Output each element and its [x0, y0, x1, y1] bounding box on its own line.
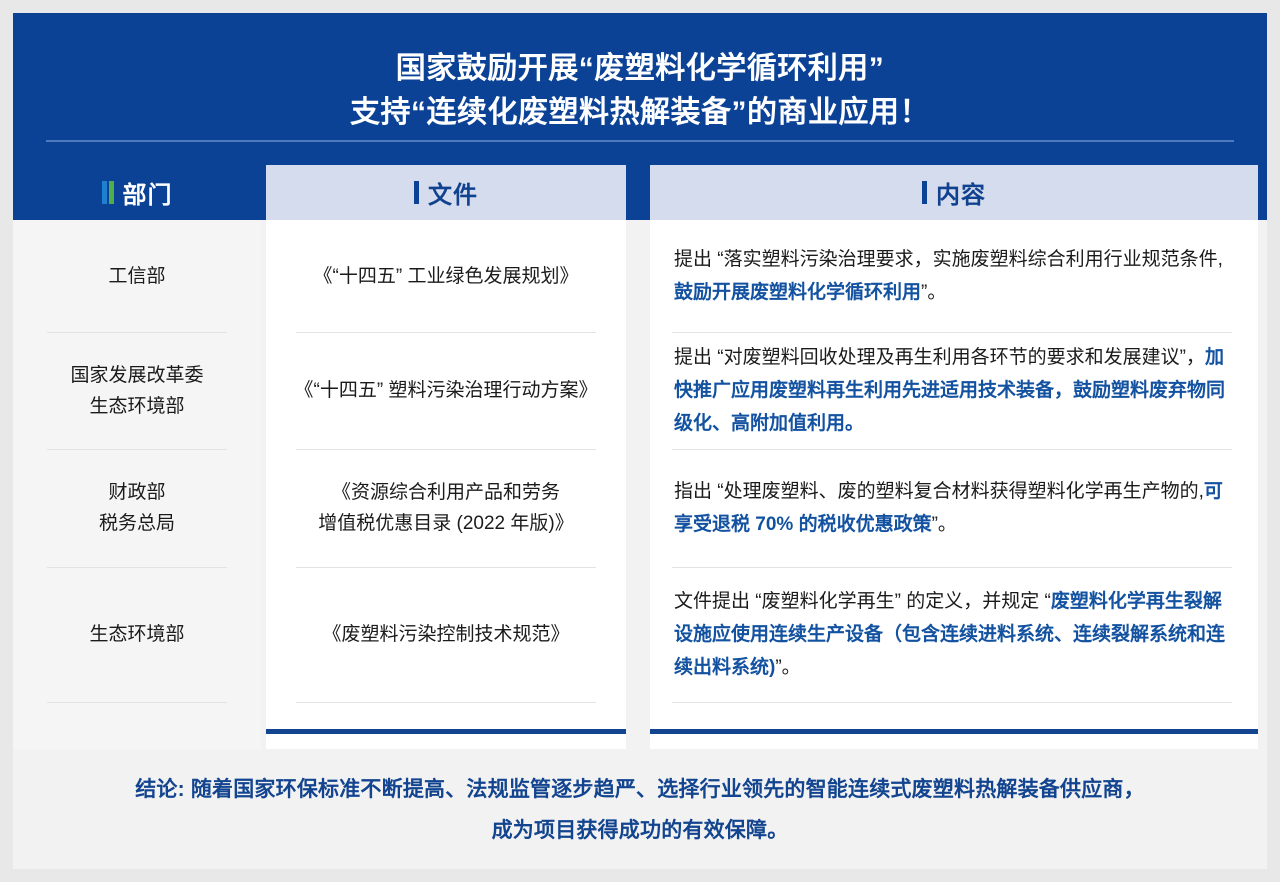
- table-row: 提出 “对废塑料回收处理及再生利用各环节的要求和发展建议”，加快推广应用废塑料再…: [650, 332, 1258, 449]
- table-row: 《“十四五” 塑料污染治理行动方案》: [266, 332, 626, 449]
- table-row: 《废塑料污染控制技术规范》: [266, 567, 626, 702]
- column-header-file: 文件: [266, 165, 626, 220]
- row-divider: [296, 332, 596, 333]
- row-divider: [47, 449, 227, 450]
- file-column: 《“十四五” 工业绿色发展规划》 《“十四五” 塑料污染治理行动方案》 《资源综…: [266, 220, 626, 749]
- department-line-2: 税务总局: [99, 513, 175, 534]
- table-row: 指出 “处理废塑料、废的塑料复合材料获得塑料化学再生产物的,可享受退税 70% …: [650, 449, 1258, 567]
- department-line-2: 生态环境部: [89, 396, 184, 417]
- title-line-2: 支持“连续化废塑料热解装备”的商业应用！: [13, 91, 1267, 135]
- row-divider: [672, 332, 1232, 333]
- department-value: 工信部: [108, 261, 165, 292]
- content-column: 提出 “落实塑料污染治理要求，实施废塑料综合利用行业规范条件,鼓励开展废塑料化学…: [650, 220, 1258, 749]
- conclusion-text: 结论: 随着国家环保标准不断提高、法规监管逐步趋严、选择行业领先的智能连续式废塑…: [13, 769, 1267, 851]
- row-divider: [672, 567, 1232, 568]
- row-divider: [47, 567, 227, 568]
- column-header-file-label: 文件: [428, 175, 478, 210]
- table-row: 生态环境部: [13, 567, 261, 702]
- page-title: 国家鼓励开展“废塑料化学循环利用” 支持“连续化废塑料热解装备”的商业应用！: [13, 47, 1267, 135]
- department-value: 财政部 税务总局: [99, 477, 175, 539]
- file-value: 《废塑料污染控制技术规范》: [322, 619, 569, 650]
- plain-text: ”。: [932, 514, 957, 535]
- title-line-1: 国家鼓励开展“废塑料化学循环利用”: [396, 52, 885, 85]
- column-header-content: 内容: [650, 165, 1258, 220]
- plain-text: 文件提出 “废塑料化学再生” 的定义，并规定 “: [674, 591, 1051, 612]
- department-value: 生态环境部: [89, 619, 184, 650]
- table-row: 文件提出 “废塑料化学再生” 的定义，并规定 “废塑料化学再生裂解设施应使用连续…: [650, 567, 1258, 702]
- table-row: 财政部 税务总局: [13, 449, 261, 567]
- plain-text: 指出 “处理废塑料、废的塑料复合材料获得塑料化学再生产物的,: [674, 481, 1204, 502]
- table-row: 提出 “落实塑料污染治理要求，实施废塑料综合利用行业规范条件,鼓励开展废塑料化学…: [650, 220, 1258, 332]
- table-row: 《“十四五” 工业绿色发展规划》: [266, 220, 626, 332]
- plain-text: 提出 “对废塑料回收处理及再生利用各环节的要求和发展建议”，: [674, 347, 1205, 368]
- table-row: 《资源综合利用产品和劳务 增值税优惠目录 (2022 年版)》: [266, 449, 626, 567]
- slide-card: 国家鼓励开展“废塑料化学循环利用” 支持“连续化废塑料热解装备”的商业应用！ 部…: [13, 13, 1267, 869]
- column-header-department-label: 部门: [123, 175, 173, 210]
- single-bar-marker-icon: [922, 181, 927, 204]
- department-value: 国家发展改革委 生态环境部: [70, 360, 203, 422]
- double-bar-marker-icon: [102, 181, 114, 204]
- column-header-content-label: 内容: [936, 175, 986, 210]
- file-value: 《资源综合利用产品和劳务 增值税优惠目录 (2022 年版)》: [318, 477, 573, 539]
- plain-text: ”。: [921, 282, 946, 303]
- row-divider: [47, 702, 227, 703]
- table-row: 工信部: [13, 220, 261, 332]
- row-divider: [672, 702, 1232, 703]
- plain-text: ”。: [775, 657, 800, 678]
- conclusion-line-2: 成为项目获得成功的有效保障。: [43, 810, 1237, 851]
- file-value: 《“十四五” 塑料污染治理行动方案》: [295, 375, 598, 406]
- file-column-bottom-bar: [266, 729, 626, 734]
- highlighted-text: 鼓励开展废塑料化学循环利用: [674, 282, 921, 303]
- content-value: 提出 “对废塑料回收处理及再生利用各环节的要求和发展建议”，加快推广应用废塑料再…: [674, 341, 1230, 440]
- content-column-bottom-bar: [650, 729, 1258, 734]
- row-divider: [296, 702, 596, 703]
- department-column: 工信部 国家发展改革委 生态环境部 财政部 税务总局 生态环境部: [13, 220, 261, 749]
- department-line-1: 国家发展改革委: [70, 365, 203, 386]
- header-divider: [46, 140, 1234, 142]
- row-divider: [296, 449, 596, 450]
- file-line-2: 增值税优惠目录 (2022 年版)》: [318, 513, 573, 534]
- table-body: 工信部 国家发展改革委 生态环境部 财政部 税务总局 生态环境部: [13, 220, 1267, 749]
- conclusion-line-1: 结论: 随着国家环保标准不断提高、法规监管逐步趋严、选择行业领先的智能连续式废塑…: [135, 778, 1145, 801]
- content-value: 文件提出 “废塑料化学再生” 的定义，并规定 “废塑料化学再生裂解设施应使用连续…: [674, 585, 1230, 684]
- file-value: 《“十四五” 工业绿色发展规划》: [314, 261, 579, 292]
- plain-text: 提出 “落实塑料污染治理要求，实施废塑料综合利用行业规范条件,: [674, 249, 1223, 270]
- row-divider: [296, 567, 596, 568]
- content-value: 提出 “落实塑料污染治理要求，实施废塑料综合利用行业规范条件,鼓励开展废塑料化学…: [674, 243, 1230, 309]
- row-divider: [47, 332, 227, 333]
- content-value: 指出 “处理废塑料、废的塑料复合材料获得塑料化学再生产物的,可享受退税 70% …: [674, 475, 1230, 541]
- department-line-1: 财政部: [108, 482, 165, 503]
- column-header-department: 部门: [13, 165, 261, 220]
- table-row: 国家发展改革委 生态环境部: [13, 332, 261, 449]
- row-divider: [672, 449, 1232, 450]
- single-bar-marker-icon: [414, 181, 419, 204]
- file-line-1: 《资源综合利用产品和劳务: [332, 482, 560, 503]
